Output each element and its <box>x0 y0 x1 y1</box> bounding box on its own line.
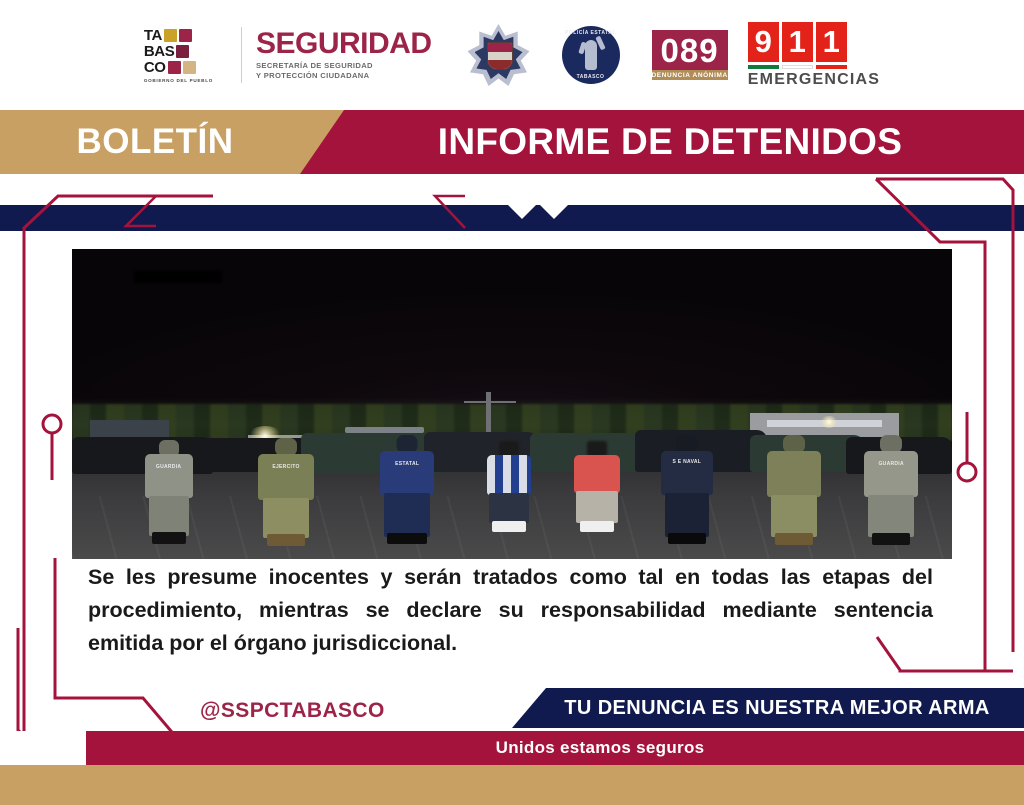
footer-slogan-secondary: Unidos estamos seguros <box>496 738 705 758</box>
089-caption: DENUNCIA ANÓNIMA <box>652 70 728 80</box>
detainees-photo: GUARDIA EJERCITO ESTATAL <box>72 249 952 559</box>
banner-boletin-label: BOLETÍN <box>0 110 310 174</box>
tabasco-logo-swatch-2 <box>179 29 192 42</box>
round-badge-bottom-text: TABASCO <box>562 74 620 80</box>
left-circle-decor <box>43 415 61 433</box>
shield-emblem-icon <box>487 42 513 70</box>
navy-notch-right-icon <box>540 205 568 219</box>
footer-gold-band <box>0 765 1024 805</box>
disclaimer-paragraph: Se les presume inocentes y serán tratado… <box>88 561 933 660</box>
photo-pole-crossbar <box>464 401 517 403</box>
911-digits: 9 1 1 <box>748 22 880 62</box>
right-circle-decor <box>958 463 976 481</box>
navy-accent-bar-top <box>0 205 1024 231</box>
boletin-page: TA BAS CO GOBIERNO DEL PUEBLO <box>0 0 1024 805</box>
footer-navy-banner: TU DENUNCIA ES NUESTRA MEJOR ARMA <box>512 688 1024 728</box>
header-logo-strip: TA BAS CO GOBIERNO DEL PUEBLO <box>0 0 1024 110</box>
tabasco-logo-subtitle: GOBIERNO DEL PUEBLO <box>144 78 213 83</box>
banner-title: INFORME DE DETENIDOS <box>340 110 1000 174</box>
tabasco-logo-line2: BAS <box>144 44 174 59</box>
photo-patrol-lightbar <box>345 427 424 433</box>
statue-figure-icon <box>585 40 597 70</box>
banner-wedge-decor <box>330 174 390 188</box>
089-number: 089 <box>661 34 719 67</box>
911-digit-3: 1 <box>816 22 847 62</box>
photo-person-ejercito: EJERCITO <box>248 438 324 540</box>
footer-crimson-left-mask <box>0 731 86 765</box>
social-handle[interactable]: @SSPCTABASCO <box>200 699 385 723</box>
photo-pole <box>486 392 491 435</box>
header-divider <box>241 27 242 83</box>
round-badge-top-text: POLICÍA ESTATAL <box>562 30 620 36</box>
photo-person-ejercito-2 <box>758 435 830 540</box>
tabasco-logo-swatch-5 <box>183 61 196 74</box>
photo-detainee-2 <box>569 441 625 540</box>
tabasco-logo-line3: CO <box>144 60 166 75</box>
photo-person-estatal: ESTATAL <box>371 435 443 540</box>
seguridad-subtitle-line1: SECRETARÍA DE SEGURIDAD <box>256 61 432 71</box>
photo-redaction-block <box>134 271 222 283</box>
navy-notch-left-icon <box>508 205 536 219</box>
911-digit-2: 1 <box>782 22 813 62</box>
911-digit-1: 9 <box>748 22 779 62</box>
911-caption: EMERGENCIAS <box>748 71 880 89</box>
tabasco-logo-swatch-3 <box>176 45 189 58</box>
denuncia-anonima-089-logo: 089 DENUNCIA ANÓNIMA <box>652 30 728 80</box>
seguridad-logotype: SEGURIDAD SECRETARÍA DE SEGURIDAD Y PROT… <box>256 29 452 81</box>
footer-crimson-banner: Unidos estamos seguros <box>0 731 1024 765</box>
seguridad-title: SEGURIDAD <box>256 29 432 59</box>
tabasco-gobierno-logo: TA BAS CO GOBIERNO DEL PUEBLO <box>144 28 227 83</box>
mexico-flag-stripes-icon <box>748 65 880 69</box>
footer-slogan-primary: TU DENUNCIA ES NUESTRA MEJOR ARMA <box>546 697 989 720</box>
photo-person-guardia-1: GUARDIA <box>134 438 204 540</box>
tabasco-logo-swatch-4 <box>168 61 181 74</box>
photo-person-guardia-2: GUARDIA <box>855 435 927 540</box>
emergencias-911-logo: 9 1 1 EMERGENCIAS <box>748 22 880 89</box>
photo-detainee-1 <box>481 441 537 540</box>
photo-person-naval: S E NAVAL <box>653 435 721 540</box>
seguridad-subtitle-line2: Y PROTECCIÓN CIUDADANA <box>256 71 432 81</box>
tabasco-logo-line1: TA <box>144 28 162 43</box>
089-number-box: 089 <box>652 30 728 70</box>
police-star-badge-icon <box>468 24 530 86</box>
tabasco-logo-swatch-1 <box>164 29 177 42</box>
policia-estatal-round-badge-icon: POLICÍA ESTATAL TABASCO <box>562 26 620 84</box>
